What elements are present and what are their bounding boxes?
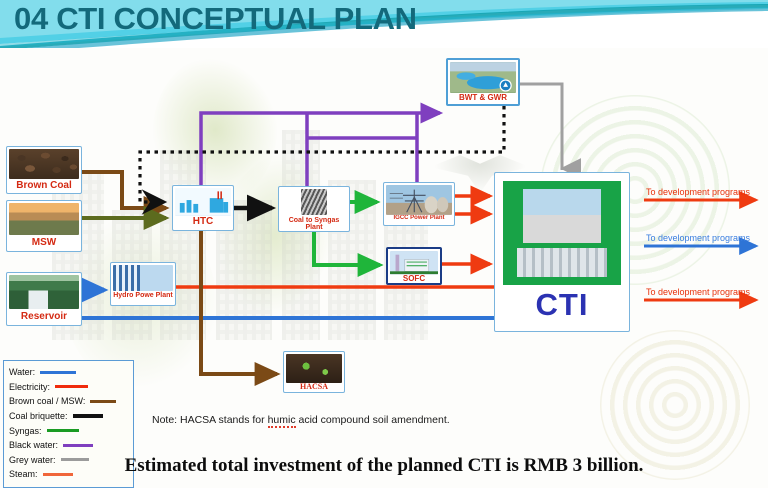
legend-item: Coal briquette: — [9, 409, 128, 424]
slide-canvas: 04 CTI CONCEPTUAL PLAN — [0, 0, 768, 488]
soil-seedling-photo — [286, 354, 342, 383]
note-prefix: Note: HACSA stands for — [152, 414, 268, 426]
htc-photo — [175, 188, 231, 216]
node-label: Reservoir — [9, 312, 79, 323]
msw-photo — [9, 203, 79, 235]
node-label: SOFC — [390, 275, 438, 283]
syngas-plant-photo — [301, 189, 327, 215]
legend-item: Syngas: — [9, 423, 128, 438]
node-label: MSW — [9, 238, 79, 249]
output-label-2: To development programs — [646, 233, 750, 243]
node-label: BWT & GWR — [450, 94, 516, 102]
legend-item-label: Brown coal / MSW: — [9, 396, 85, 406]
legend-item-swatch — [90, 400, 116, 403]
reservoir-photo — [9, 275, 79, 309]
igcc-photo — [386, 185, 452, 215]
sofc-photo — [390, 251, 438, 275]
note-suffix: acid compound soil amendment. — [296, 414, 450, 426]
legend-item: Brown coal / MSW: — [9, 394, 128, 409]
legend-item-label: Water: — [9, 367, 35, 377]
node-label: Coal to Syngas Plant — [281, 217, 347, 232]
node-cti[interactable]: CTI — [494, 172, 630, 332]
recycle-badge-icon — [450, 62, 516, 93]
legend-item-swatch — [63, 444, 93, 447]
node-igcc-power-plant[interactable]: IGCC Power Plant — [383, 182, 455, 226]
output-label-1: To development programs — [646, 187, 750, 197]
brown-coal-photo — [9, 149, 79, 179]
node-brown-coal[interactable]: Brown Coal — [6, 146, 82, 194]
summary-statement: Estimated total investment of the planne… — [0, 455, 768, 477]
water-treatment-photo — [450, 62, 516, 93]
node-sofc[interactable]: SOFC — [386, 247, 442, 285]
node-label: Brown Coal — [9, 181, 79, 192]
note-text: Note: HACSA stands for humic acid compou… — [152, 414, 450, 426]
node-bwt-gwr[interactable]: BWT & GWR — [446, 58, 520, 106]
legend-item-label: Syngas: — [9, 426, 42, 436]
legend-item: Electricity: — [9, 380, 128, 395]
cti-tanks-photo — [517, 248, 607, 277]
node-htc[interactable]: HTC — [172, 185, 234, 231]
legend-item: Black water: — [9, 438, 128, 453]
legend-item-label: Coal briquette: — [9, 411, 68, 421]
node-reservoir[interactable]: Reservoir — [6, 272, 82, 326]
legend-item-swatch — [47, 429, 79, 432]
node-label: HTC — [175, 217, 231, 228]
node-hacsa[interactable]: HACSA — [283, 351, 345, 393]
node-label: HACSA — [286, 383, 342, 391]
power-pylon-icon — [386, 185, 452, 215]
node-label: IGCC Power Plant — [386, 215, 452, 221]
cti-image-panel — [503, 181, 621, 285]
node-msw[interactable]: MSW — [6, 200, 82, 252]
legend-item-swatch — [55, 385, 88, 388]
legend-item-label: Electricity: — [9, 382, 50, 392]
node-coal-to-syngas-plant[interactable]: Coal to Syngas Plant — [278, 186, 350, 232]
node-label: Hydro Powe Plant — [113, 292, 173, 299]
legend-item-swatch — [73, 414, 103, 418]
note-misspelled-word: humic — [268, 414, 296, 428]
output-label-3: To development programs — [646, 287, 750, 297]
hydro-plant-photo — [113, 265, 173, 291]
node-label: CTI — [503, 289, 621, 322]
legend-item-swatch — [40, 371, 76, 374]
fuel-cell-building-icon — [390, 251, 438, 275]
htc-plant-icon — [175, 188, 231, 216]
cti-plant-photo — [523, 189, 601, 243]
legend-item: Water: — [9, 365, 128, 380]
node-hydro-power-plant[interactable]: Hydro Powe Plant — [110, 262, 176, 306]
legend-item-label: Black water: — [9, 440, 58, 450]
